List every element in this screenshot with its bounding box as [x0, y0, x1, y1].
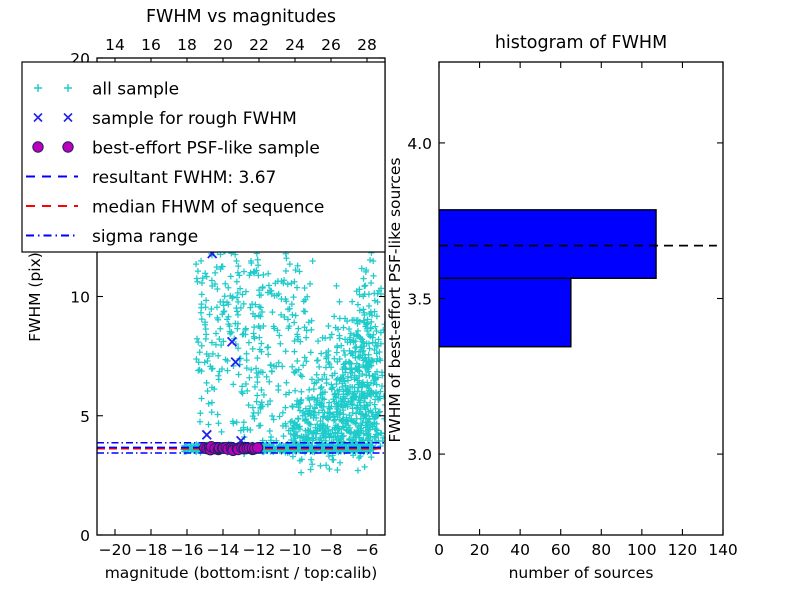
left-xtick-top-label: 16 — [141, 36, 161, 54]
legend[interactable]: all samplesample for rough FWHMbest-effo… — [22, 62, 385, 252]
left-xtick-top-label: 28 — [357, 36, 377, 54]
left-xtick-top-label: 18 — [177, 36, 197, 54]
legend-item-label: best-effort PSF-like sample — [92, 139, 320, 159]
left-xtick-bottom-label: −12 — [243, 541, 276, 559]
left-ytick-label: 5 — [80, 408, 90, 426]
right-xtick-label: 140 — [708, 541, 738, 559]
right-ytick-label: 3.0 — [407, 446, 432, 464]
legend-item-label: median FHWM of sequence — [92, 198, 324, 218]
legend-item-label: resultant FWHM: 3.67 — [92, 168, 276, 188]
left-xtick-top-label: 14 — [105, 36, 125, 54]
right-xaxis-label: number of sources — [509, 564, 654, 582]
left-xtick-top-label: 24 — [285, 36, 305, 54]
left-xtick-top-label: 26 — [321, 36, 341, 54]
left-xtick-bottom-label: −8 — [320, 541, 343, 559]
left-xtick-bottom-label: −6 — [356, 541, 379, 559]
left-xtick-top-label: 20 — [213, 36, 233, 54]
right-xtick-label: 20 — [470, 541, 490, 559]
left-xtick-bottom-label: −20 — [99, 541, 132, 559]
legend-item-label: sigma range — [92, 227, 198, 247]
right-yaxis-label: FWHM of best-effort PSF-like sources — [386, 157, 404, 442]
left-xtick-bottom-label: −10 — [279, 541, 312, 559]
right-xtick-label: 40 — [510, 541, 530, 559]
right-ytick-label: 3.5 — [407, 291, 432, 309]
right-panel: 020406080100120140 3.03.54.0 histogram o… — [386, 33, 738, 582]
left-xaxis-label: magnitude (bottom:isnt / top:calib) — [105, 564, 378, 582]
left-xtick-top-label: 22 — [249, 36, 269, 54]
left-ytick-label: 10 — [70, 289, 90, 307]
right-xtick-label: 100 — [627, 541, 657, 559]
left-ytick-label: 0 — [80, 527, 90, 545]
right-panel-title: histogram of FWHM — [495, 33, 667, 53]
right-xtick-label: 0 — [434, 541, 444, 559]
left-xtick-bottom-label: −14 — [207, 541, 240, 559]
right-xtick-label: 120 — [668, 541, 698, 559]
histogram-bar — [439, 278, 571, 346]
left-xtick-bottom-label: −16 — [171, 541, 204, 559]
legend-item-label: all sample — [92, 80, 179, 100]
right-ytick-label: 4.0 — [407, 135, 432, 153]
histogram-bar — [439, 210, 656, 278]
left-panel-title: FWHM vs magnitudes — [146, 7, 336, 27]
left-xtick-bottom-label: −18 — [135, 541, 168, 559]
legend-item-label: sample for rough FWHM — [92, 109, 297, 129]
plot-svg: −20−18−16−14−12−10−8−6 1416182022242628 … — [0, 0, 800, 600]
scatter-psf-sample — [199, 442, 262, 456]
right-xtick-label: 60 — [551, 541, 571, 559]
right-xtick-label: 80 — [591, 541, 611, 559]
figure-canvas: −20−18−16−14−12−10−8−6 1416182022242628 … — [0, 0, 800, 600]
left-yaxis-label: FWHM (pix) — [26, 252, 44, 342]
